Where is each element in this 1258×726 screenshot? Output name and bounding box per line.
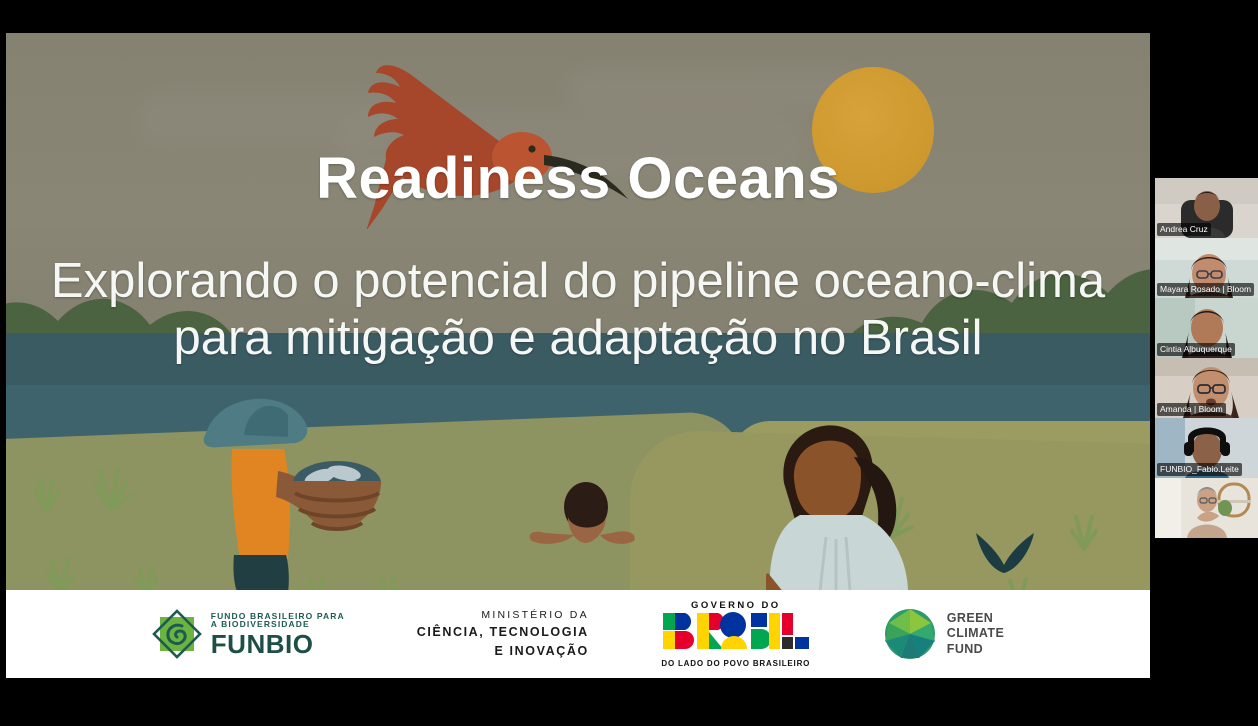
funbio-wordmark: FUNBIO xyxy=(211,631,345,657)
gcf-line1: GREEN xyxy=(947,611,1004,626)
governo-top-text: GOVERNO DO xyxy=(661,600,811,611)
participant-name-label: FUNBIO_Fabio.Leite xyxy=(1157,463,1242,476)
participant-tile[interactable] xyxy=(1155,478,1258,538)
participant-name-label: Mayara Rosado | Bloom xyxy=(1157,283,1254,296)
gcf-line3: FUND xyxy=(947,642,1004,657)
brasil-wordmark-icon xyxy=(661,611,811,651)
mcti-line1: MINISTÉRIO DA xyxy=(417,608,589,623)
whale-tail-icon xyxy=(974,531,1036,573)
gcf-globe-icon xyxy=(883,607,937,661)
slide-title: Readiness Oceans xyxy=(6,145,1150,212)
slide-illustration: Readiness Oceans Explorando o potencial … xyxy=(6,33,1150,590)
green-climate-fund-logo: GREEN CLIMATE FUND xyxy=(883,607,1004,661)
funbio-mark-icon xyxy=(152,609,202,659)
participant-name-label: Amanda | Bloom xyxy=(1157,403,1226,416)
zoom-meeting-window: Readiness Oceans Explorando o potencial … xyxy=(0,0,1258,726)
sponsor-logo-band: FUNDO BRASILEIRO PARA A BIODIVERSIDADE F… xyxy=(6,590,1150,678)
funbio-logo: FUNDO BRASILEIRO PARA A BIODIVERSIDADE F… xyxy=(152,609,345,659)
participant-tile[interactable]: Cintia Albuquerque xyxy=(1155,298,1258,358)
girl-with-ponytail xyxy=(766,413,956,590)
participant-tile[interactable]: Andrea Cruz xyxy=(1155,178,1258,238)
slide-subtitle: Explorando o potencial do pipeline ocean… xyxy=(46,253,1110,368)
governo-do-brasil-logo: GOVERNO DO xyxy=(661,600,811,668)
mcti-line3: E INOVAÇÃO xyxy=(417,642,589,660)
participant-video xyxy=(1155,478,1258,538)
participant-tile[interactable]: Mayara Rosado | Bloom xyxy=(1155,238,1258,298)
participant-name-label: Andrea Cruz xyxy=(1157,223,1211,236)
fisherman-with-basket xyxy=(192,363,412,590)
shared-screen-slide[interactable]: Readiness Oceans Explorando o potencial … xyxy=(6,33,1150,678)
funbio-tagline-line2: A BIODIVERSIDADE xyxy=(211,620,345,629)
gcf-line2: CLIMATE xyxy=(947,626,1004,641)
governo-bottom-text: DO LADO DO POVO BRASILEIRO xyxy=(661,659,811,668)
mcti-line2: CIÊNCIA, TECNOLOGIA xyxy=(417,623,589,641)
participant-tile[interactable]: FUNBIO_Fabio.Leite xyxy=(1155,418,1258,478)
participant-tile[interactable]: Amanda | Bloom xyxy=(1155,358,1258,418)
mcti-logo: MINISTÉRIO DA CIÊNCIA, TECNOLOGIA E INOV… xyxy=(417,608,589,659)
swimmer xyxy=(526,473,656,553)
participant-name-label: Cintia Albuquerque xyxy=(1157,343,1235,356)
participant-filmstrip[interactable]: Andrea Cruz Mayara Rosado | Bloom xyxy=(1155,178,1258,540)
